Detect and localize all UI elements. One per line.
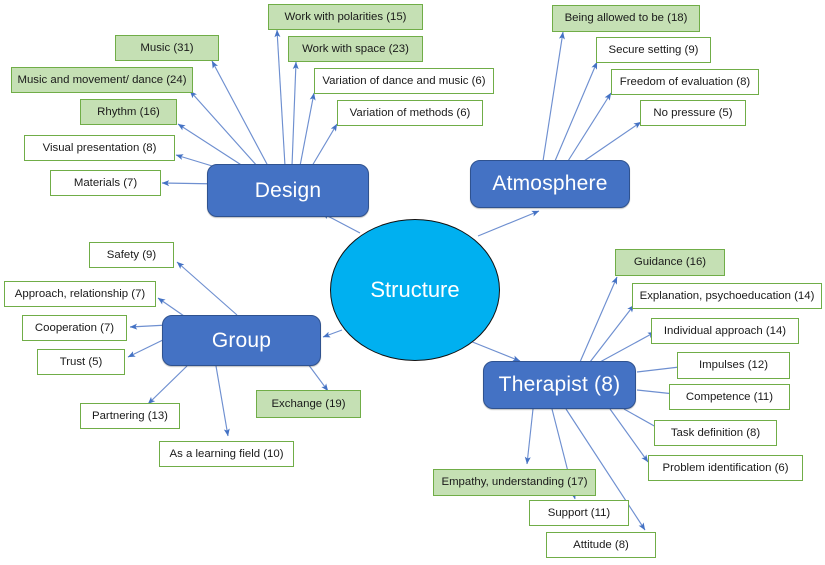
- leaf-label: Attitude (8): [573, 539, 629, 552]
- edge-therapist-individual: [600, 332, 655, 362]
- leaf-label: Task definition (8): [671, 427, 760, 440]
- leaf-no-pressure[interactable]: No pressure (5): [640, 100, 746, 126]
- leaf-impulses[interactable]: Impulses (12): [677, 352, 790, 379]
- leaf-label: Visual presentation (8): [43, 142, 157, 155]
- leaf-label: Materials (7): [74, 177, 137, 190]
- edge-structure-group: [323, 330, 342, 337]
- leaf-label: Approach, relationship (7): [15, 288, 145, 301]
- leaf-label: Partnering (13): [92, 410, 168, 423]
- leaf-rhythm[interactable]: Rhythm (16): [80, 99, 177, 125]
- edge-atmosphere-secure: [555, 62, 597, 161]
- edge-atmosphere-allowed: [543, 32, 563, 161]
- edge-design-vardance: [300, 93, 314, 166]
- edge-group-exchange: [308, 364, 328, 391]
- edge-atmosphere-nopressure: [584, 122, 641, 161]
- leaf-label: No pressure (5): [653, 107, 732, 120]
- leaf-explanation-psychoeducation[interactable]: Explanation, psychoeducation (14): [632, 283, 822, 309]
- leaf-label: Being allowed to be (18): [565, 12, 688, 25]
- edge-group-approach: [158, 298, 184, 316]
- leaf-label: Variation of methods (6): [350, 107, 471, 120]
- leaf-music[interactable]: Music (31): [115, 35, 219, 61]
- leaf-approach-relationship[interactable]: Approach, relationship (7): [4, 281, 156, 307]
- leaf-label: Guidance (16): [634, 256, 706, 269]
- edge-design-musicmove: [190, 91, 258, 167]
- leaf-label: Exchange (19): [271, 398, 345, 411]
- leaf-work-with-space[interactable]: Work with space (23): [288, 36, 423, 62]
- branch-node-design[interactable]: Design: [207, 164, 369, 217]
- edge-group-partnering: [148, 366, 187, 404]
- leaf-label: Support (11): [548, 507, 610, 520]
- leaf-work-with-polarities[interactable]: Work with polarities (15): [268, 4, 423, 30]
- leaf-individual-approach[interactable]: Individual approach (14): [651, 318, 799, 344]
- leaf-label: Variation of dance and music (6): [322, 75, 485, 88]
- leaf-support[interactable]: Support (11): [529, 500, 629, 526]
- branch-node-atmosphere[interactable]: Atmosphere: [470, 160, 630, 208]
- leaf-label: Music (31): [140, 42, 193, 55]
- leaf-label: Impulses (12): [699, 359, 768, 372]
- leaf-label: Problem identification (6): [663, 462, 789, 475]
- leaf-label: Individual approach (14): [664, 325, 786, 338]
- leaf-label: Trust (5): [60, 356, 103, 369]
- mindmap-canvas: Structure Design Atmosphere Group Therap…: [0, 0, 825, 565]
- leaf-freedom-of-evaluation[interactable]: Freedom of evaluation (8): [611, 69, 759, 95]
- leaf-label: Empathy, understanding (17): [441, 476, 587, 489]
- leaf-task-definition[interactable]: Task definition (8): [654, 420, 777, 446]
- leaf-empathy-understanding[interactable]: Empathy, understanding (17): [433, 469, 596, 496]
- center-node-structure[interactable]: Structure: [330, 219, 500, 361]
- leaf-competence[interactable]: Competence (11): [669, 384, 790, 410]
- leaf-variation-of-dance-and-music[interactable]: Variation of dance and music (6): [314, 68, 494, 94]
- edge-design-varmethods: [312, 124, 337, 166]
- center-node-label: Structure: [370, 277, 459, 303]
- leaf-partnering[interactable]: Partnering (13): [80, 403, 180, 429]
- branch-node-therapist-label: Therapist (8): [499, 373, 621, 397]
- leaf-label: As a learning field (10): [170, 448, 284, 461]
- edge-structure-atmosphere: [478, 211, 539, 236]
- leaf-being-allowed-to-be[interactable]: Being allowed to be (18): [552, 5, 700, 32]
- leaf-label: Work with polarities (15): [285, 11, 407, 24]
- edge-structure-therapist: [470, 341, 520, 361]
- edge-design-rhythm: [178, 124, 246, 168]
- leaf-music-and-movement-dance[interactable]: Music and movement/ dance (24): [11, 67, 193, 93]
- branch-node-atmosphere-label: Atmosphere: [492, 172, 607, 196]
- leaf-label: Cooperation (7): [35, 322, 114, 335]
- leaf-cooperation[interactable]: Cooperation (7): [22, 315, 127, 341]
- leaf-label: Explanation, psychoeducation (14): [640, 290, 815, 303]
- edge-design-space: [292, 62, 296, 166]
- leaf-label: Safety (9): [107, 249, 156, 262]
- edge-therapist-problem: [610, 409, 648, 462]
- branch-node-group-label: Group: [212, 329, 271, 353]
- edge-atmosphere-freedom: [568, 93, 611, 161]
- leaf-secure-setting[interactable]: Secure setting (9): [596, 37, 711, 63]
- leaf-trust[interactable]: Trust (5): [37, 349, 125, 375]
- branch-node-design-label: Design: [255, 179, 322, 203]
- edge-group-safety: [177, 262, 237, 315]
- edge-therapist-explanation: [590, 305, 634, 362]
- leaf-label: Freedom of evaluation (8): [620, 76, 750, 89]
- edge-therapist-empathy: [527, 409, 533, 464]
- edge-design-polarities: [277, 30, 285, 166]
- branch-node-group[interactable]: Group: [162, 315, 321, 366]
- branch-node-therapist[interactable]: Therapist (8): [483, 361, 636, 409]
- edge-group-learningfield: [216, 366, 228, 436]
- leaf-visual-presentation[interactable]: Visual presentation (8): [24, 135, 175, 161]
- leaf-attitude[interactable]: Attitude (8): [546, 532, 656, 558]
- edge-design-music: [212, 61, 268, 166]
- leaf-problem-identification[interactable]: Problem identification (6): [648, 455, 803, 481]
- leaf-label: Secure setting (9): [609, 44, 699, 57]
- leaf-safety[interactable]: Safety (9): [89, 242, 174, 268]
- leaf-label: Work with space (23): [302, 43, 409, 56]
- leaf-variation-of-methods[interactable]: Variation of methods (6): [337, 100, 483, 126]
- leaf-as-a-learning-field[interactable]: As a learning field (10): [159, 441, 294, 467]
- leaf-materials[interactable]: Materials (7): [50, 170, 161, 196]
- leaf-exchange[interactable]: Exchange (19): [256, 390, 361, 418]
- leaf-label: Rhythm (16): [97, 106, 160, 119]
- leaf-label: Music and movement/ dance (24): [17, 74, 186, 87]
- edge-therapist-guidance: [580, 277, 617, 362]
- leaf-guidance[interactable]: Guidance (16): [615, 249, 725, 276]
- leaf-label: Competence (11): [686, 391, 773, 404]
